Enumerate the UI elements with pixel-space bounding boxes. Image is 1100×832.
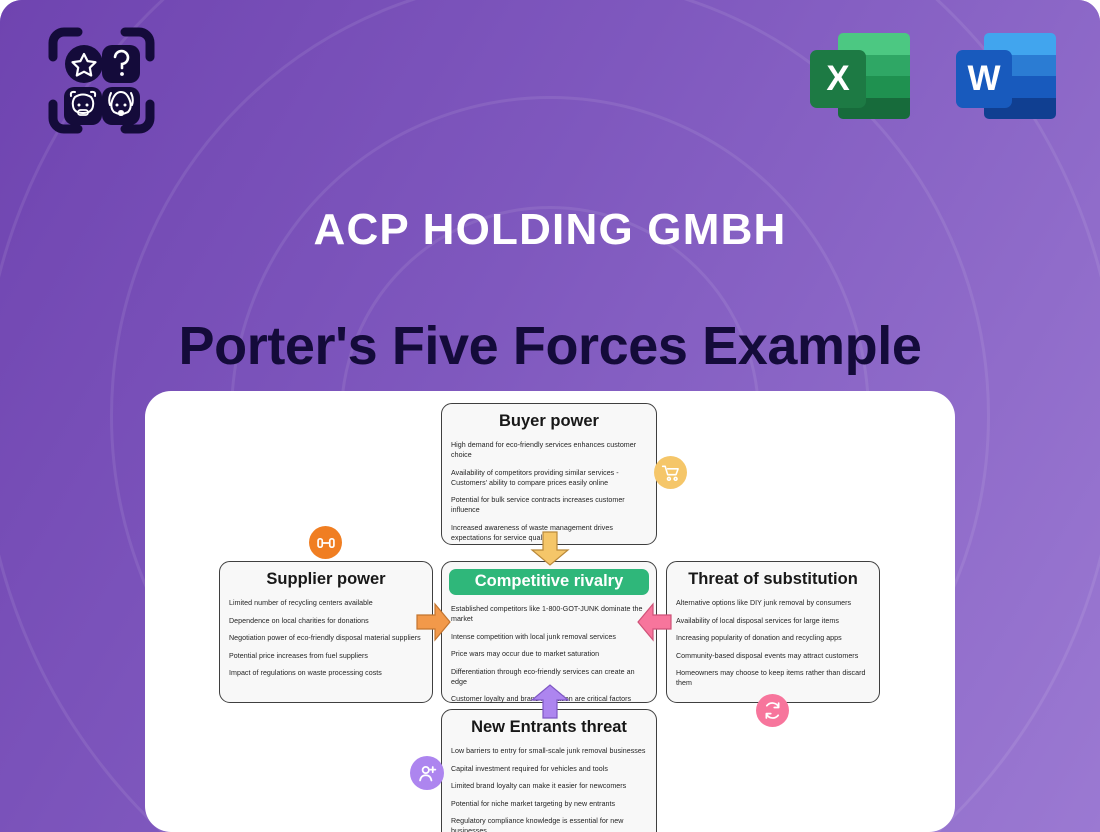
- list-item: Potential price increases from fuel supp…: [229, 651, 423, 661]
- list-item: Availability of competitors providing si…: [451, 468, 647, 488]
- list-item: Impact of regulations on waste processin…: [229, 668, 423, 678]
- list-item: Limited brand loyalty can make it easier…: [451, 781, 647, 791]
- force-box-buyer-power[interactable]: Buyer power High demand for eco-friendly…: [441, 403, 657, 545]
- badge-new-entrants-threat[interactable]: [410, 756, 444, 790]
- poster-page: X W ACP HOLDING GMBH Porter's Five Force…: [0, 0, 1100, 832]
- list-item: Differentiation through eco-friendly ser…: [451, 667, 647, 687]
- porters-five-forces-diagram: Buyer power High demand for eco-friendly…: [145, 391, 955, 832]
- word-icon[interactable]: W: [956, 28, 1056, 124]
- list-item: Community-based disposal events may attr…: [676, 651, 870, 661]
- company-title: ACP HOLDING GMBH: [0, 205, 1100, 255]
- force-box-supplier-power[interactable]: Supplier power Limited number of recycli…: [219, 561, 433, 703]
- force-title-supplier-power: Supplier power: [229, 570, 423, 589]
- list-item: Intense competition with local junk remo…: [451, 632, 647, 642]
- logo-tile-dog: [102, 87, 140, 125]
- list-item: Homeowners may choose to keep items rath…: [676, 668, 870, 688]
- list-item: Low barriers to entry for small-scale ju…: [451, 746, 647, 756]
- page-title: Porter's Five Forces Example: [0, 315, 1100, 377]
- list-item: Dependence on local charities for donati…: [229, 616, 423, 626]
- word-icon-letter: W: [956, 50, 1012, 108]
- force-box-threat-of-substitution[interactable]: Threat of substitution Alternative optio…: [666, 561, 880, 703]
- force-title-new-entrants-threat: New Entrants threat: [451, 718, 647, 737]
- excel-icon-letter: X: [810, 50, 866, 108]
- list-item: Availability of local disposal services …: [676, 616, 870, 626]
- force-points-supplier-power: Limited number of recycling centers avai…: [229, 598, 423, 678]
- list-item: High demand for eco-friendly services en…: [451, 440, 647, 460]
- force-box-competitive-rivalry[interactable]: Competitive rivalry Established competit…: [441, 561, 657, 703]
- list-item: Limited number of recycling centers avai…: [229, 598, 423, 608]
- link-chain-icon: [316, 533, 336, 553]
- logo-tile-cow: [64, 87, 102, 125]
- export-icons: X W: [810, 28, 1056, 124]
- badge-buyer-power[interactable]: [654, 456, 687, 489]
- list-item: Capital investment required for vehicles…: [451, 764, 647, 774]
- list-item: Negotiation power of eco-friendly dispos…: [229, 633, 423, 643]
- brand-logo[interactable]: [48, 27, 155, 134]
- force-title-threat-of-substitution: Threat of substitution: [676, 570, 870, 589]
- force-points-threat-of-substitution: Alternative options like DIY junk remova…: [676, 598, 870, 688]
- shopping-cart-icon: [661, 463, 681, 483]
- list-item: Potential for bulk service contracts inc…: [451, 495, 647, 515]
- list-item: Established competitors like 1-800-GOT-J…: [451, 604, 647, 624]
- list-item: Increasing popularity of donation and re…: [676, 633, 870, 643]
- list-item: Price wars may occur due to market satur…: [451, 649, 647, 659]
- badge-threat-of-substitution[interactable]: [756, 694, 789, 727]
- badge-supplier-power[interactable]: [309, 526, 342, 559]
- force-points-new-entrants-threat: Low barriers to entry for small-scale ju…: [451, 746, 647, 832]
- force-box-new-entrants-threat[interactable]: New Entrants threat Low barriers to entr…: [441, 709, 657, 832]
- logo-tile-star: [65, 45, 103, 83]
- excel-icon[interactable]: X: [810, 28, 910, 124]
- logo-tile-question: [102, 45, 140, 83]
- force-title-buyer-power: Buyer power: [451, 412, 647, 431]
- diagram-card: Buyer power High demand for eco-friendly…: [145, 391, 955, 832]
- force-title-competitive-rivalry: Competitive rivalry: [449, 569, 649, 595]
- list-item: Regulatory compliance knowledge is essen…: [451, 816, 647, 832]
- add-user-icon: [417, 763, 438, 784]
- list-item: Alternative options like DIY junk remova…: [676, 598, 870, 608]
- force-points-buyer-power: High demand for eco-friendly services en…: [451, 440, 647, 543]
- list-item: Potential for niche market targeting by …: [451, 799, 647, 809]
- refresh-sync-icon: [762, 700, 783, 721]
